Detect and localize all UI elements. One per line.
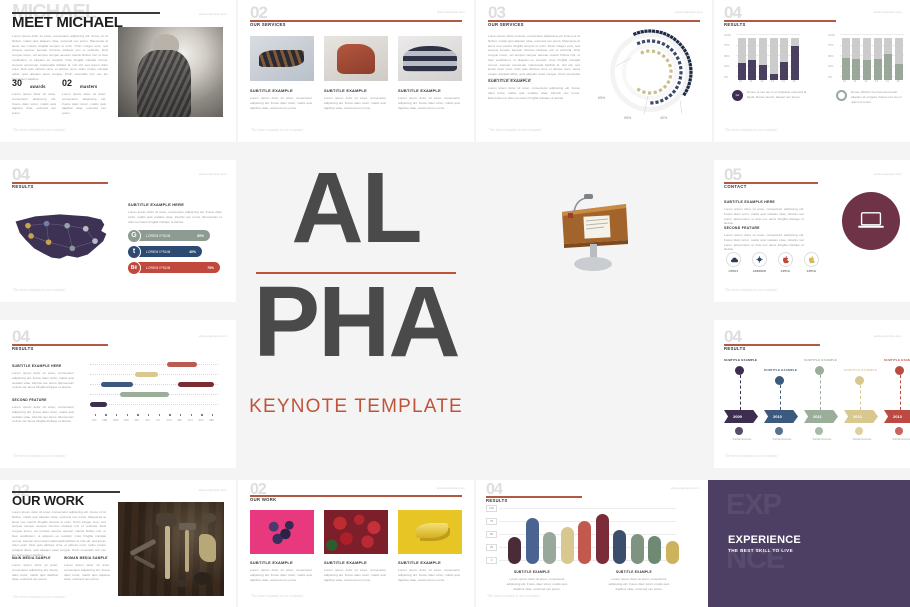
gridline — [499, 508, 676, 509]
gridline — [840, 34, 904, 35]
ghost-number: 05 — [724, 166, 741, 183]
bar-value — [738, 63, 746, 80]
ghost-number: 04 — [724, 4, 741, 21]
gantt-tick-label: DEC — [209, 419, 214, 422]
cloud-icon[interactable] — [726, 252, 741, 267]
bar-value — [543, 532, 556, 564]
timeline-stem — [900, 375, 901, 410]
slide-our-services-products[interactable]: 02 OUR SERVICES www.example.com SUBTITLE… — [238, 0, 474, 142]
bar-chart-secondary: 100%75%50%25%0%101112131415 — [840, 34, 908, 80]
timeline-top-label: SUBTITLE EXAMPLE — [884, 358, 910, 362]
slide-results-rounded-bars[interactable]: 04 RESULTS www.example.com 1007550250 SU… — [476, 480, 708, 607]
fruit-image-bananas — [398, 510, 462, 554]
body-text: Lorem ipsum dolor sit amet, consectetur … — [128, 210, 222, 224]
watermark: www.example.com — [199, 488, 227, 492]
timeline-stem — [860, 385, 861, 410]
laptop-icon — [858, 212, 884, 230]
ghost-number: 03 — [488, 4, 505, 21]
slide-keynote-icon[interactable] — [476, 160, 712, 302]
gantt-tick-label: MAY — [135, 419, 140, 422]
gantt-chart: JANFEBMARAPRMAYJUNJULAUGSEPOCTNOVDEC — [90, 360, 220, 426]
timeline-year: 2009 — [733, 414, 742, 419]
united-states-map — [10, 204, 114, 270]
ghost-text-top: EXP — [726, 492, 781, 519]
x-tick-label: 13 — [771, 79, 774, 83]
social-label: LOREM IPSUM — [146, 250, 171, 254]
bar-value — [852, 59, 860, 80]
card-subtitle: SUBTITLE EXAMPLE — [398, 88, 441, 93]
body-text: Lorem ipsum dolor sit amet, consectetur … — [12, 34, 108, 82]
gantt-tick — [169, 414, 171, 416]
gantt-tick — [201, 414, 203, 416]
timeline-stem — [780, 385, 781, 410]
gantt-tick — [148, 414, 150, 416]
timeline-year-chevron: 2009 — [724, 410, 758, 423]
platform-label: APPLE — [804, 270, 819, 273]
bar-value — [884, 54, 892, 80]
cloud-icon — [836, 90, 847, 101]
gantt-tick-label: MAR — [113, 419, 118, 422]
gantt-tick — [180, 414, 182, 416]
bar-value — [842, 58, 850, 80]
page-kicker: RESULTS — [12, 184, 34, 189]
y-tick-label: 75% — [724, 43, 730, 47]
section-subtitle-1: SUBTITLE EXAMPLE HERE — [724, 200, 775, 204]
gantt-track — [90, 404, 218, 405]
timeline-year: 2010 — [773, 414, 782, 419]
x-tick-label: 11 — [750, 79, 753, 83]
apple-icon[interactable] — [804, 252, 819, 267]
page-title: OUR WORK — [12, 493, 84, 508]
bar-value — [791, 46, 799, 80]
timeline-node — [815, 366, 824, 375]
column-title-1: MAIN MEDIA SAMPLE — [12, 556, 51, 560]
timeline-caption: Subtitle Example — [845, 438, 879, 441]
card-body-text: Lorem ipsum dolor sit amet, consectetur … — [324, 96, 386, 110]
stat-label: masters — [80, 84, 97, 89]
footnote: "The best company is our company" — [724, 128, 778, 132]
product-image — [324, 36, 388, 81]
product-image — [398, 36, 462, 81]
bar-track — [842, 38, 850, 80]
footnote: "The best company is our company" — [724, 288, 778, 292]
social-bar-google-plus[interactable]: G LOREM IPSUM 60% — [130, 230, 210, 241]
footnote: "The best company is our company" — [724, 454, 778, 458]
timeline-icon — [855, 427, 863, 435]
page-kicker: RESULTS — [724, 22, 746, 27]
gantt-tick — [127, 414, 129, 416]
gantt-bar — [101, 382, 133, 387]
social-bar-twitter[interactable]: t LOREM IPSUM 40% — [130, 246, 202, 257]
section-subtitle-2: SECOND FEATURE — [724, 226, 760, 230]
card-body-text: Lorem ipsum dolor sit amet, consectetur … — [398, 568, 460, 582]
stat-number: 02 — [62, 78, 72, 88]
timeline-node — [895, 366, 904, 375]
column-body-2: Lorem ipsum dolor sit amet, consectetur … — [64, 563, 110, 582]
card-body-text: Lorem ipsum dolor sit amet, consectetur … — [250, 96, 312, 110]
bar-value — [666, 541, 679, 564]
footnote: "The best company is our company" — [250, 128, 304, 132]
footnote: "The best company is our company" — [486, 594, 540, 598]
watermark: www.example.com — [199, 12, 227, 16]
slide-results-timeline[interactable]: 04 RESULTS www.example.com SUBTITLE EXAM… — [714, 320, 910, 468]
timeline-caption: Subtitle Example — [885, 438, 910, 441]
x-tick-label: 12 — [864, 79, 867, 83]
card-body-text: Lorem ipsum dolor sit amet, consectetur … — [398, 96, 460, 110]
card-body-text: Lorem ipsum dolor sit amet, consectetur … — [250, 568, 312, 582]
bar-track — [748, 38, 756, 80]
gantt-track — [90, 364, 218, 365]
timeline-year: 2012 — [853, 414, 862, 419]
bar-value — [648, 536, 661, 564]
ghost-number: 04 — [12, 328, 29, 345]
behance-icon: Bē — [127, 261, 141, 275]
timeline-caption: Subtitle Example — [725, 438, 759, 441]
bar-value — [578, 521, 591, 564]
bar-value — [874, 59, 882, 80]
y-tick-label: 50% — [828, 54, 834, 58]
slide-results-gantt[interactable]: 04 RESULTS www.example.com SUBTITLE EXAM… — [0, 320, 236, 468]
footnote: "The best company is our company" — [12, 288, 66, 292]
section-subtitle: SUBTITLE EXAMPLE HERE — [128, 202, 184, 207]
android-icon[interactable] — [752, 252, 767, 267]
cover-title-line2: PHA — [238, 278, 474, 366]
gantt-tick-label: JAN — [92, 419, 97, 422]
slide-cover-alpha[interactable]: AL PHA KEYNOTE TEMPLATE — [238, 160, 474, 468]
page-kicker: CONTACT — [724, 184, 747, 189]
x-tick-label: 13 — [875, 79, 878, 83]
timeline-node — [855, 376, 864, 385]
bar-track — [759, 38, 767, 80]
timeline-top-label: SUBTITLE EXAMPLE — [764, 368, 797, 372]
timeline-top-label: SUBTITLE EXAMPLE — [724, 358, 757, 362]
scissors-icon: ✂ — [732, 90, 743, 101]
gantt-bar — [120, 392, 169, 397]
gantt-tick — [116, 414, 118, 416]
bar-track — [895, 38, 903, 80]
legend-title-1: SUBTITLE EXAMPLE — [514, 570, 550, 574]
section-subtitle-2: SECOND FEATURE — [12, 398, 47, 402]
timeline-year: 2011 — [813, 414, 822, 419]
radial-label-40: 40% — [660, 116, 667, 120]
page-kicker: RESULTS — [12, 346, 34, 351]
timeline-node — [735, 366, 744, 375]
timeline-top-label: SUBTITLE EXAMPLE — [844, 368, 877, 372]
bar-track — [863, 38, 871, 80]
body-text: Lorem ipsum dolor sit amet, consectetur … — [724, 207, 804, 226]
portrait-photo — [118, 27, 223, 117]
social-label: LOREM IPSUM — [146, 266, 171, 270]
column-title-2: WOMAN MEDIA SAMPLE — [64, 556, 108, 560]
section-subtitle-1: SUBTITLE EXAMPLE HERE — [12, 364, 62, 368]
body-text: Lorem ipsum dolor sit amet, consectetur … — [12, 371, 74, 390]
legend-body-1: Lorem ipsum dolor sit amet, consectetur … — [506, 577, 568, 591]
gantt-bar — [167, 362, 197, 367]
page-kicker: OUR SERVICES — [250, 22, 286, 27]
social-bar-behance[interactable]: Bē LOREM IPSUM 75% — [130, 262, 220, 273]
y-tick-label: 25 — [486, 544, 497, 551]
google-plus-icon: G — [127, 229, 141, 243]
bar-value — [759, 65, 767, 80]
rounded-bar-chart: 1007550250 — [486, 508, 686, 564]
body-text: Lorem ipsum dolor sit amet, consectetur … — [12, 510, 106, 558]
page-kicker: RESULTS — [724, 346, 746, 351]
bar-chart-primary: 100%75%50%25%0%101112131415 — [736, 34, 804, 80]
slide-our-services-radial[interactable]: 03 OUR SERVICES www.example.com Lorem ip… — [476, 0, 712, 142]
x-tick-label: 15 — [792, 79, 795, 83]
gantt-tick-label: JUL — [156, 419, 160, 422]
stat-number: 30 — [12, 78, 22, 88]
gantt-tick — [105, 414, 107, 416]
watermark: www.example.com — [199, 172, 227, 176]
y-tick-label: 0 — [486, 557, 497, 564]
y-tick-label: 50 — [486, 531, 497, 538]
social-percent: 40% — [189, 250, 196, 254]
card-subtitle: SUBTITLE EXAMPLE — [324, 88, 367, 93]
page-kicker: OUR WORK — [250, 497, 277, 502]
gantt-bar — [178, 382, 214, 387]
watermark: www.example.com — [874, 334, 902, 338]
apple-icon[interactable] — [778, 252, 793, 267]
watermark: www.example.com — [874, 172, 902, 176]
timeline-chart: SUBTITLE EXAMPLE2009Subtitle ExampleSUBT… — [722, 354, 910, 444]
gridline — [736, 34, 800, 35]
timeline-year-chevron: 2011 — [804, 410, 838, 423]
gantt-tick — [95, 414, 97, 416]
x-tick-label: 14 — [886, 79, 889, 83]
ghost-number: 02 — [250, 4, 267, 21]
gantt-tick-label: SEP — [177, 419, 182, 422]
card-subtitle: SUBTITLE EXAMPLE — [250, 560, 293, 565]
gantt-tick-label: JUN — [145, 419, 150, 422]
watermark: www.example.com — [675, 10, 703, 14]
gantt-tick-label: NOV — [199, 419, 204, 422]
x-tick-label: 12 — [760, 79, 763, 83]
bar-track — [852, 38, 860, 80]
timeline-icon — [735, 427, 743, 435]
laptop-icon-circle — [842, 192, 900, 250]
slide-meet-michael[interactable]: MICHAEL MEET MICHAEL www.example.com Lor… — [0, 0, 236, 142]
y-tick-label: 0% — [724, 75, 728, 79]
slide-our-work-tools[interactable]: 02 OUR WORK www.example.com Lorem ipsum … — [0, 480, 236, 607]
timeline-year-chevron: 2013 — [884, 410, 910, 423]
legend-title-2: SUBTITLE EXAMPLE — [616, 570, 652, 574]
bar-value — [596, 514, 609, 564]
card-subtitle: SUBTITLE EXAMPLE — [398, 560, 441, 565]
y-tick-label: 50% — [724, 54, 730, 58]
ghost-number: 04 — [12, 166, 29, 183]
body-text: Lorem ipsum dolor sit amet, consectetur … — [12, 405, 74, 424]
y-tick-label: 100% — [828, 33, 835, 37]
y-tick-label: 75 — [486, 518, 497, 525]
page-subtitle: THE BEST SKILL TO LIVE — [728, 548, 793, 553]
gantt-tick-label: APR — [124, 419, 129, 422]
bar-value — [561, 527, 574, 564]
section-subtitle: SUBTITLE EXAMPLE — [488, 78, 531, 83]
gantt-bar — [90, 402, 107, 407]
watermark: www.example.com — [671, 486, 699, 490]
footnote: "The best company is our company" — [488, 128, 542, 132]
legend-body-2: Lorem ipsum dolor sit amet, consectetur … — [608, 577, 670, 591]
platform-label: ANDROID — [752, 270, 767, 273]
y-tick-label: 100% — [724, 33, 731, 37]
bar-track — [791, 38, 799, 80]
watermark: www.example.com — [874, 10, 902, 14]
footnote: "The best company is our company" — [12, 595, 66, 599]
ghost-number: 04 — [724, 328, 741, 345]
social-percent: 75% — [207, 266, 214, 270]
bar-value — [613, 530, 626, 564]
stat-body-text: Lorem ipsum dolor sit amet, consectetur … — [12, 92, 56, 116]
legend-text: Donec ut nec leo in ut vulputate euismod… — [747, 90, 807, 100]
body-text: Lorem ipsum dolor sit amet, consectetur … — [724, 233, 804, 252]
slide-results-bar-charts[interactable]: 04 RESULTS www.example.com 100%75%50%25%… — [714, 0, 910, 142]
card-subtitle: SUBTITLE EXAMPLE — [324, 560, 367, 565]
y-tick-label: 75% — [828, 43, 834, 47]
x-tick-label: 10 — [843, 79, 846, 83]
page-title: MEET MICHAEL — [12, 14, 123, 31]
footnote: "The best company is our company" — [12, 128, 66, 132]
fruit-image-blueberries — [250, 510, 314, 554]
product-image — [250, 36, 314, 81]
social-label: LOREM IPSUM — [146, 234, 171, 238]
cover-tagline: KEYNOTE TEMPLATE — [238, 396, 474, 418]
body-text: Lorem ipsum dolor sit amet, consectetur … — [488, 34, 580, 82]
radial-label-55: 55% — [624, 116, 631, 120]
watermark: www.example.com — [437, 486, 465, 490]
watermark: www.example.com — [437, 10, 465, 14]
page-kicker: RESULTS — [486, 498, 508, 503]
bar-value — [895, 64, 903, 80]
bar-value — [748, 60, 756, 80]
y-tick-label: 100 — [486, 505, 497, 512]
slide-experience[interactable]: EXP NCE EXPERIENCE THE BEST SKILL TO LIV… — [708, 480, 910, 607]
legend-text: Donec efficitur nec hac accumsan aliquam… — [851, 90, 903, 104]
timeline-year: 2013 — [893, 414, 902, 419]
bar-value — [863, 60, 871, 80]
footnote: "The best company is our company" — [250, 594, 304, 598]
slide-contact[interactable]: 05 CONTACT www.example.com SUBTITLE EXAM… — [714, 160, 910, 302]
twitter-icon: t — [127, 245, 141, 259]
footnote: "The best company is our company" — [12, 454, 66, 458]
bar-track — [780, 38, 788, 80]
bar-track — [874, 38, 882, 80]
y-tick-label: 0% — [828, 75, 832, 79]
bar-track — [884, 38, 892, 80]
card-subtitle: SUBTITLE EXAMPLE — [250, 88, 293, 93]
x-tick-label: 15 — [896, 79, 899, 83]
x-tick-label: 11 — [854, 79, 857, 83]
gantt-tick — [159, 414, 161, 416]
bar-value — [526, 518, 539, 564]
radial-dot-chart — [596, 18, 704, 126]
slide-thumbnail-grid: MICHAEL MEET MICHAEL www.example.com Lor… — [0, 0, 910, 607]
timeline-icon — [895, 427, 903, 435]
x-tick-label: 10 — [739, 79, 742, 83]
timeline-caption: Subtitle Example — [805, 438, 839, 441]
tools-photo — [118, 502, 224, 596]
gantt-tick-label: AUG — [167, 419, 172, 422]
page-kicker: OUR SERVICES — [488, 22, 524, 27]
timeline-top-label: SUBTITLE EXAMPLE — [804, 358, 837, 362]
gantt-bar — [135, 372, 159, 377]
gantt-tick-label: OCT — [188, 419, 193, 422]
gantt-tick-label: FEB — [103, 419, 108, 422]
stat-label: awards — [30, 84, 46, 89]
timeline-stem — [740, 375, 741, 410]
gantt-tick — [137, 414, 139, 416]
body-text: Lorem ipsum dolor sit amet, consectetur … — [488, 86, 580, 100]
page-title: EXPERIENCE — [728, 534, 801, 546]
gantt-tick — [212, 414, 214, 416]
timeline-node — [775, 376, 784, 385]
x-tick-label: 14 — [782, 79, 785, 83]
timeline-stem — [820, 375, 821, 410]
stat-body-text: Lorem ipsum dolor sit amet, consectetur … — [62, 92, 106, 116]
gantt-tick — [191, 414, 193, 416]
bar-value — [780, 62, 788, 80]
bar-value — [631, 534, 644, 564]
slide-results-map[interactable]: 04 RESULTS www.example.com SUBTITLE EXAM… — [0, 160, 236, 302]
header-rule — [250, 495, 462, 497]
timeline-icon — [815, 427, 823, 435]
slide-our-work-fruit[interactable]: 02 OUR WORK www.example.com SUBTITLE EXA… — [238, 480, 474, 607]
bar-track — [770, 38, 778, 80]
radial-label-65: 65% — [598, 96, 605, 100]
timeline-year-chevron: 2010 — [764, 410, 798, 423]
platform-label: APPLE — [778, 270, 793, 273]
platform-label: HTML5 — [726, 270, 741, 273]
watermark: www.example.com — [199, 334, 227, 338]
timeline-year-chevron: 2012 — [844, 410, 878, 423]
bar-track — [738, 38, 746, 80]
keynote-podium-icon — [554, 182, 634, 278]
timeline-icon — [775, 427, 783, 435]
cover-title-line1: AL — [238, 164, 474, 252]
social-percent: 60% — [197, 234, 204, 238]
card-body-text: Lorem ipsum dolor sit amet, consectetur … — [324, 568, 386, 582]
column-body-1: Lorem ipsum dolor sit amet, consectetur … — [12, 563, 58, 582]
y-tick-label: 25% — [828, 64, 834, 68]
y-tick-label: 25% — [724, 64, 730, 68]
bar-value — [508, 537, 521, 564]
fruit-image-strawberries — [324, 510, 388, 554]
timeline-caption: Subtitle Example — [765, 438, 799, 441]
